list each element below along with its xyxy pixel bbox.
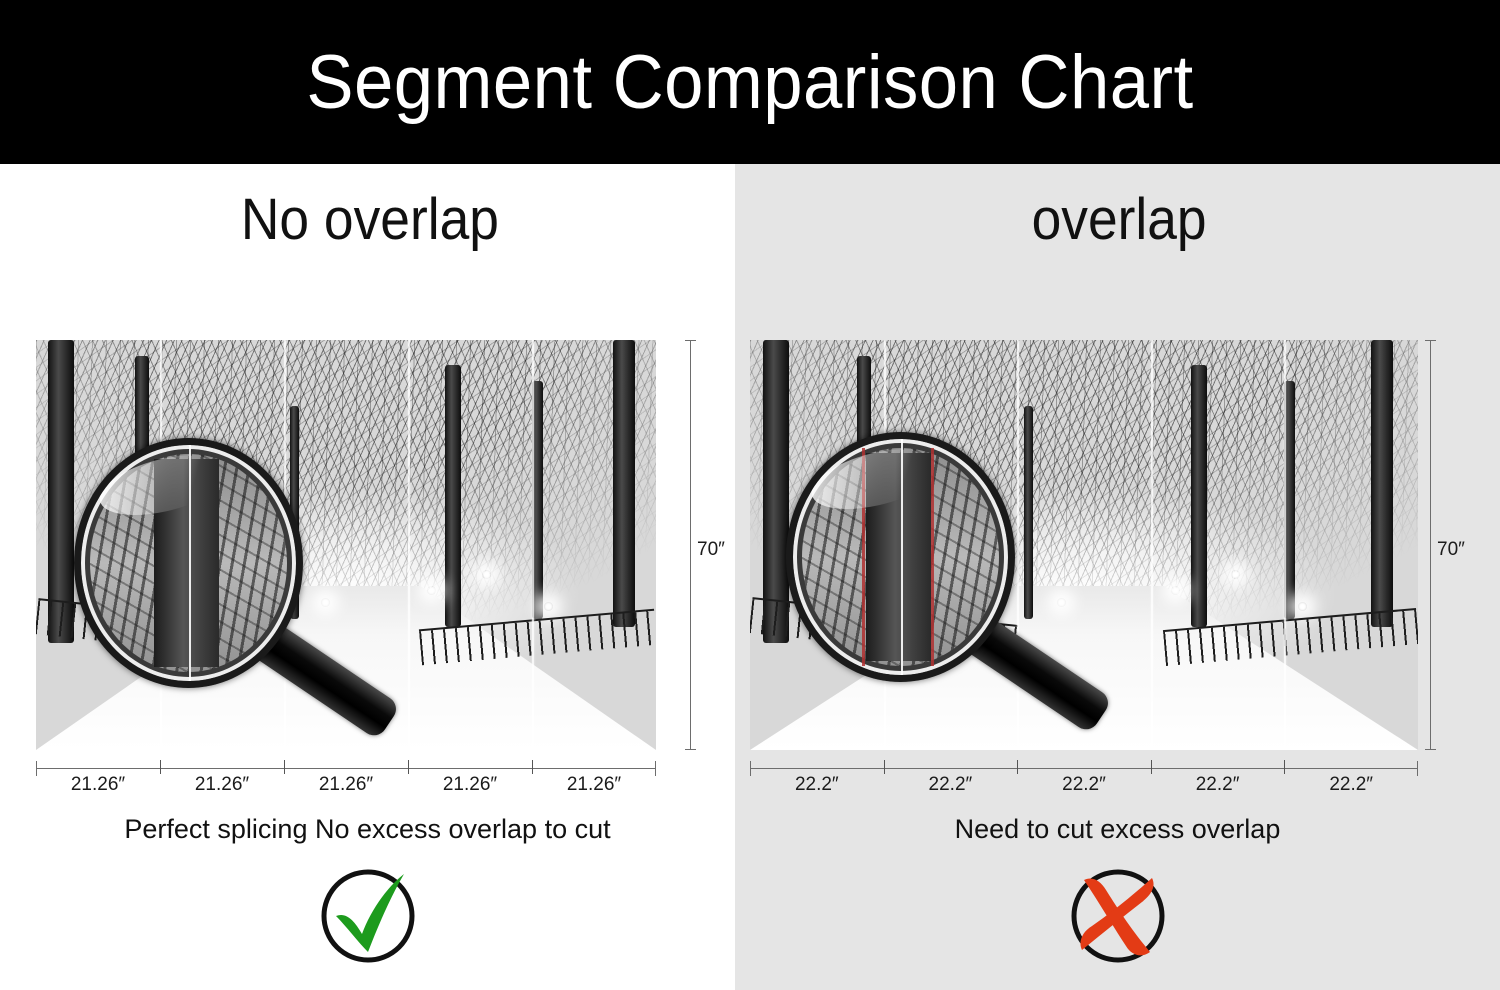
segment-seam <box>1017 340 1019 750</box>
segment-width-label: 22.2″ <box>750 774 884 796</box>
segment-comparison-page: Segment Comparison Chart No overlap <box>0 0 1500 990</box>
snowy-park-photo <box>36 340 656 750</box>
tick-cell <box>408 760 532 774</box>
page-title: Segment Comparison Chart <box>306 39 1193 126</box>
tree-trunk <box>135 356 149 627</box>
tick-cell <box>36 760 160 774</box>
tick-cell <box>1284 760 1418 774</box>
width-dimension-labels: 22.2″ 22.2″ 22.2″ 22.2″ 22.2″ <box>750 774 1418 796</box>
panel-caption-no-overlap: Perfect splicing No excess overlap to cu… <box>0 814 795 845</box>
comparison-panels: No overlap <box>0 164 1500 990</box>
tick-cell <box>750 760 884 774</box>
height-dimension-line <box>1430 340 1431 750</box>
height-dimension-label: 70″ <box>697 539 725 561</box>
photo-overlap <box>750 340 1418 750</box>
panel-heading-overlap: overlap <box>767 186 1500 253</box>
tick-cell <box>532 760 656 774</box>
panel-overlap: overlap <box>735 164 1500 990</box>
green-check-icon <box>312 864 424 968</box>
segment-width-label: 21.26″ <box>160 774 284 796</box>
tick-cell <box>884 760 1018 774</box>
height-dimension-label: 70″ <box>1437 539 1465 561</box>
street-lamp <box>427 586 436 595</box>
segment-width-label: 22.2″ <box>1151 774 1285 796</box>
segment-width-label: 22.2″ <box>1017 774 1151 796</box>
page-header: Segment Comparison Chart <box>0 0 1500 164</box>
height-dimension-line <box>690 340 691 750</box>
segment-seam <box>160 340 162 750</box>
photo-no-overlap <box>36 340 656 750</box>
segment-seam <box>1151 340 1153 750</box>
panel-no-overlap: No overlap <box>0 164 735 990</box>
street-lamp <box>1171 586 1180 595</box>
tree-trunk <box>48 340 74 643</box>
red-cross-icon <box>1062 864 1174 968</box>
segment-width-label: 22.2″ <box>1284 774 1418 796</box>
panel-caption-overlap: Need to cut excess overlap <box>735 814 1500 845</box>
segment-seam <box>408 340 410 750</box>
segment-width-label: 21.26″ <box>36 774 160 796</box>
tick-cell <box>284 760 408 774</box>
segment-width-label: 21.26″ <box>408 774 532 796</box>
segment-width-label: 21.26″ <box>532 774 656 796</box>
tree-trunk <box>613 340 635 627</box>
segment-width-label: 21.26″ <box>284 774 408 796</box>
tree-trunk <box>445 365 461 627</box>
segment-seam <box>284 340 286 750</box>
width-dimension-ticks <box>750 760 1418 774</box>
tick-cell <box>1017 760 1151 774</box>
width-dimension-ticks <box>36 760 656 774</box>
width-dimension-labels: 21.26″ 21.26″ 21.26″ 21.26″ 21.26″ <box>36 774 656 796</box>
verdict-no-overlap <box>0 864 795 968</box>
segment-seam <box>532 340 534 750</box>
tree-trunk <box>290 406 299 619</box>
verdict-overlap <box>735 864 1500 968</box>
tree-trunk <box>1024 406 1033 619</box>
street-lamp <box>482 570 491 579</box>
snowy-park-photo <box>750 340 1418 750</box>
segment-seam <box>884 340 886 750</box>
tree-trunk <box>1371 340 1393 627</box>
panel-heading-no-overlap: No overlap <box>32 186 763 253</box>
tick-cell <box>1151 760 1285 774</box>
tree-trunk <box>1191 365 1207 627</box>
tree-trunk <box>857 356 871 627</box>
segment-seam <box>1284 340 1286 750</box>
street-lamp <box>1231 570 1240 579</box>
segment-width-label: 22.2″ <box>884 774 1018 796</box>
tick-cell <box>160 760 284 774</box>
